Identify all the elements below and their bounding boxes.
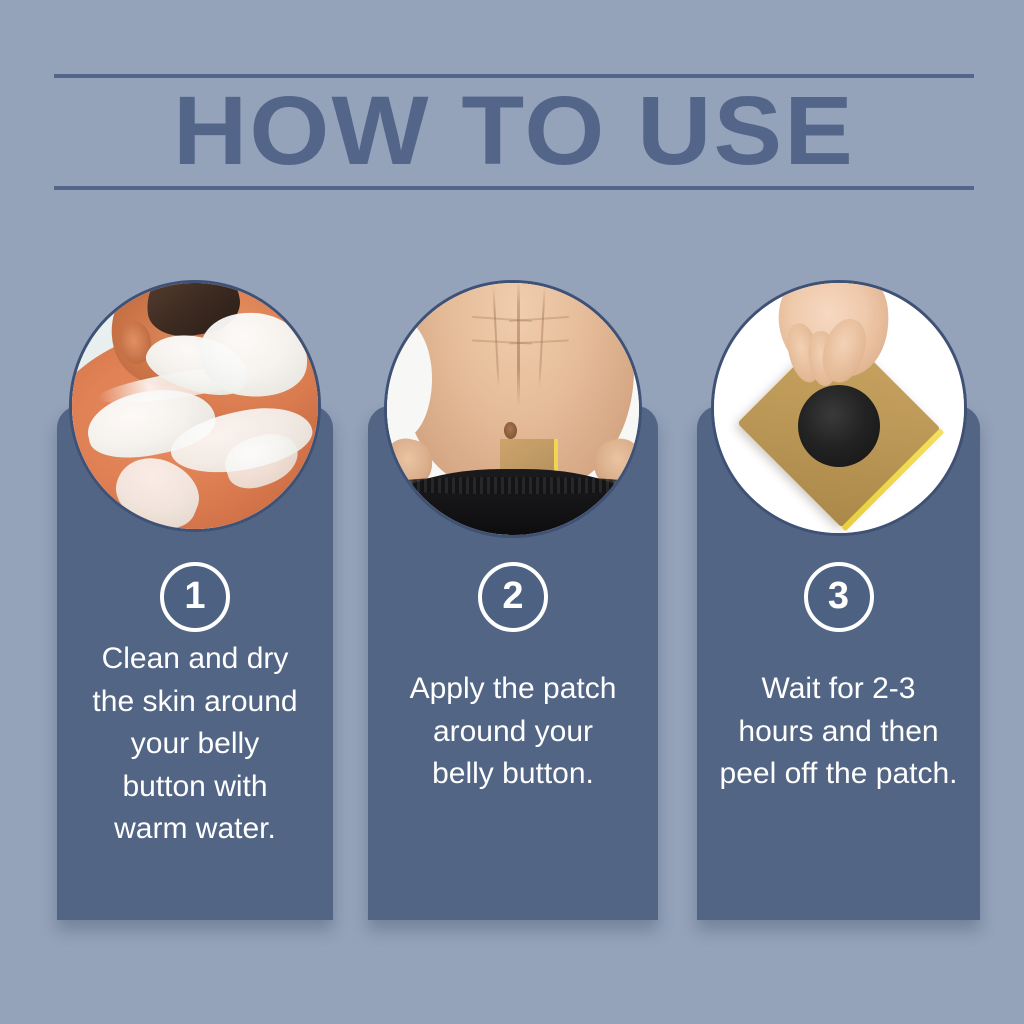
step-card-3: 3 Wait for 2-3 hours and then peel off t… [697,280,980,920]
step-number-2: 2 [502,577,523,615]
step-caption-1: Clean and dry the skin around your belly… [57,638,333,851]
patch-black-center-icon [798,385,880,467]
step-photo-1 [69,280,321,532]
step-badge-2: 2 [478,562,548,632]
step-badge-3: 3 [804,562,874,632]
step-caption-3: Wait for 2-3 hours and then peel off the… [697,668,980,796]
step-card-1: 1 Clean and dry the skin around your bel… [57,280,333,920]
step-photo-3 [711,280,967,536]
step-number-3: 3 [828,577,849,615]
step-card-2: 2 Apply the patch around your belly butt… [368,280,658,920]
step-caption-2: Apply the patch around your belly button… [368,668,658,796]
infographic-page: HOW TO USE [0,0,1024,1024]
steps-container: 1 Clean and dry the skin around your bel… [0,0,1024,1024]
torso-with-patch-on-belly-photo [387,283,639,535]
man-washing-back-with-soap-foam-photo [72,283,318,529]
step-photo-2 [384,280,642,538]
step-number-1: 1 [184,577,205,615]
hand-holding-gold-patch-photo [714,283,964,533]
step-badge-1: 1 [160,562,230,632]
